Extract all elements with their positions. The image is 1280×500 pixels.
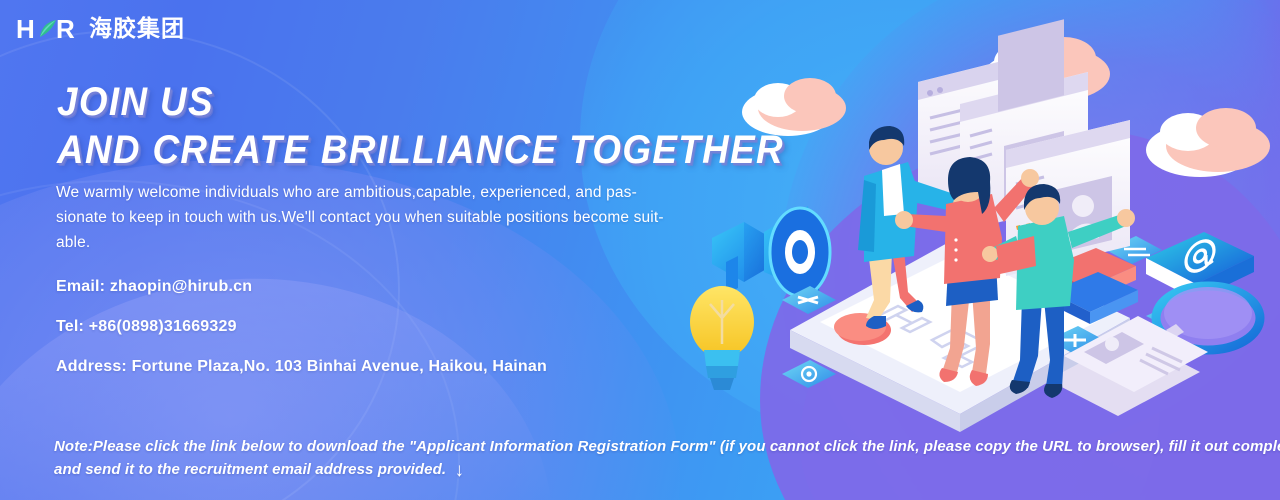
note-line-2-wrapper: and send it to the recruitment email add…: [54, 458, 1254, 482]
logo-mark: H R: [16, 16, 80, 42]
down-arrow-icon[interactable]: ↓: [454, 459, 464, 482]
footer-note: Note:Please click the link below to down…: [54, 435, 1254, 482]
intro-paragraph: We warmly welcome individuals who are am…: [56, 180, 696, 255]
recruitment-illustration: [660, 0, 1280, 440]
contact-email[interactable]: Email: zhaopin@hirub.cn: [56, 278, 547, 296]
contact-address: Address: Fortune Plaza,No. 103 Binhai Av…: [56, 358, 547, 376]
logo-chinese-name: 海胶集团: [89, 16, 185, 42]
intro-line-3: able.: [56, 230, 696, 255]
contact-tel[interactable]: Tel: +86(0898)31669329: [56, 318, 547, 336]
headline-line-2: AND CREATE BRILLIANCE TOGETHER: [57, 126, 784, 174]
megaphone-icon: [712, 206, 830, 296]
company-logo[interactable]: H R 海胶集团: [16, 16, 185, 42]
note-line-1: Note:Please click the link below to down…: [54, 435, 1254, 458]
logo-letter-h: H: [16, 16, 35, 42]
intro-line-1: We warmly welcome individuals who are am…: [56, 180, 696, 205]
headline-line-1: JOIN US: [57, 78, 784, 126]
contact-block: Email: zhaopin@hirub.cn Tel: +86(0898)31…: [56, 278, 547, 376]
logo-letter-r: R: [56, 16, 75, 42]
note-line-2: and send it to the recruitment email add…: [54, 461, 446, 478]
intro-line-2: sionate to keep in touch with us.We'll c…: [56, 205, 696, 230]
page-title: JOIN US AND CREATE BRILLIANCE TOGETHER: [57, 78, 847, 174]
recruitment-banner: H R 海胶集团 JOIN US AND CREATE BRILLIANCE T…: [0, 0, 1280, 500]
cloud-icon-right: [1146, 108, 1270, 177]
lightbulb-icon: [690, 286, 754, 390]
